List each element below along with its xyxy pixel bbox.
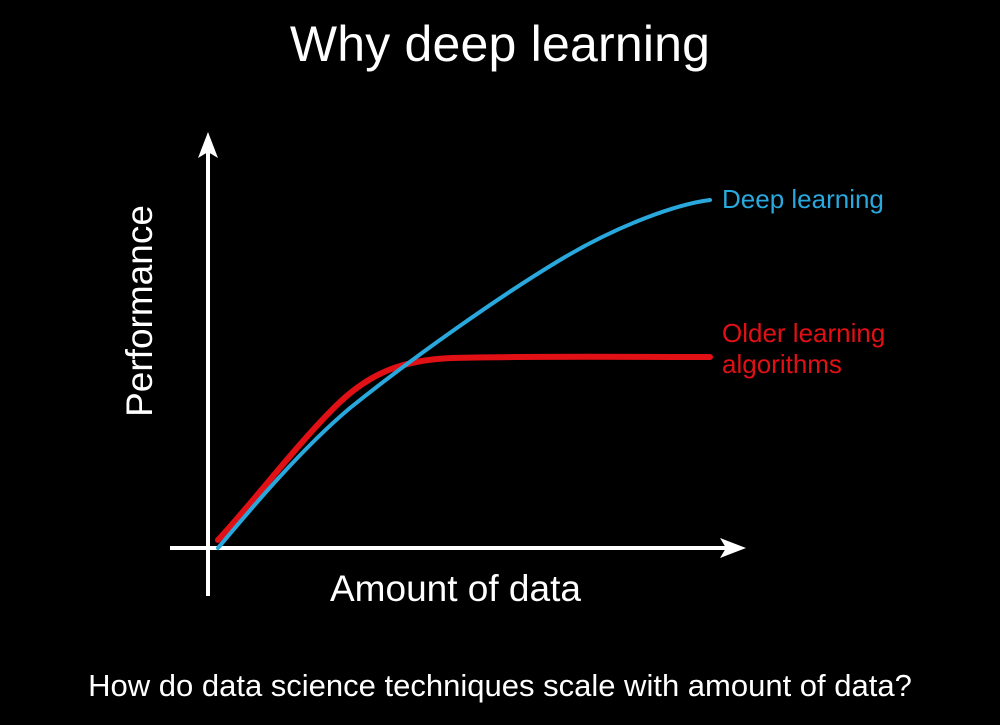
slide-caption: How do data science techniques scale wit…	[0, 668, 1000, 704]
y-axis	[198, 132, 218, 596]
page-title: Why deep learning	[0, 14, 1000, 74]
performance-vs-data-chart: Performance Amount of data Deep learning…	[0, 110, 1000, 630]
curve-older-algorithms	[218, 357, 710, 540]
series-label-older-algorithms-line1: Older learning	[722, 318, 885, 349]
y-axis-label: Performance	[119, 161, 161, 461]
series-label-older-algorithms-line2: algorithms	[722, 349, 885, 380]
slide-canvas: Why deep learning Performance Amount of …	[0, 0, 1000, 725]
x-axis	[170, 538, 746, 558]
curve-deep-learning	[218, 200, 710, 548]
series-label-deep-learning: Deep learning	[722, 184, 884, 215]
series-label-older-algorithms: Older learning algorithms	[722, 318, 885, 379]
x-axis-label: Amount of data	[330, 568, 581, 610]
